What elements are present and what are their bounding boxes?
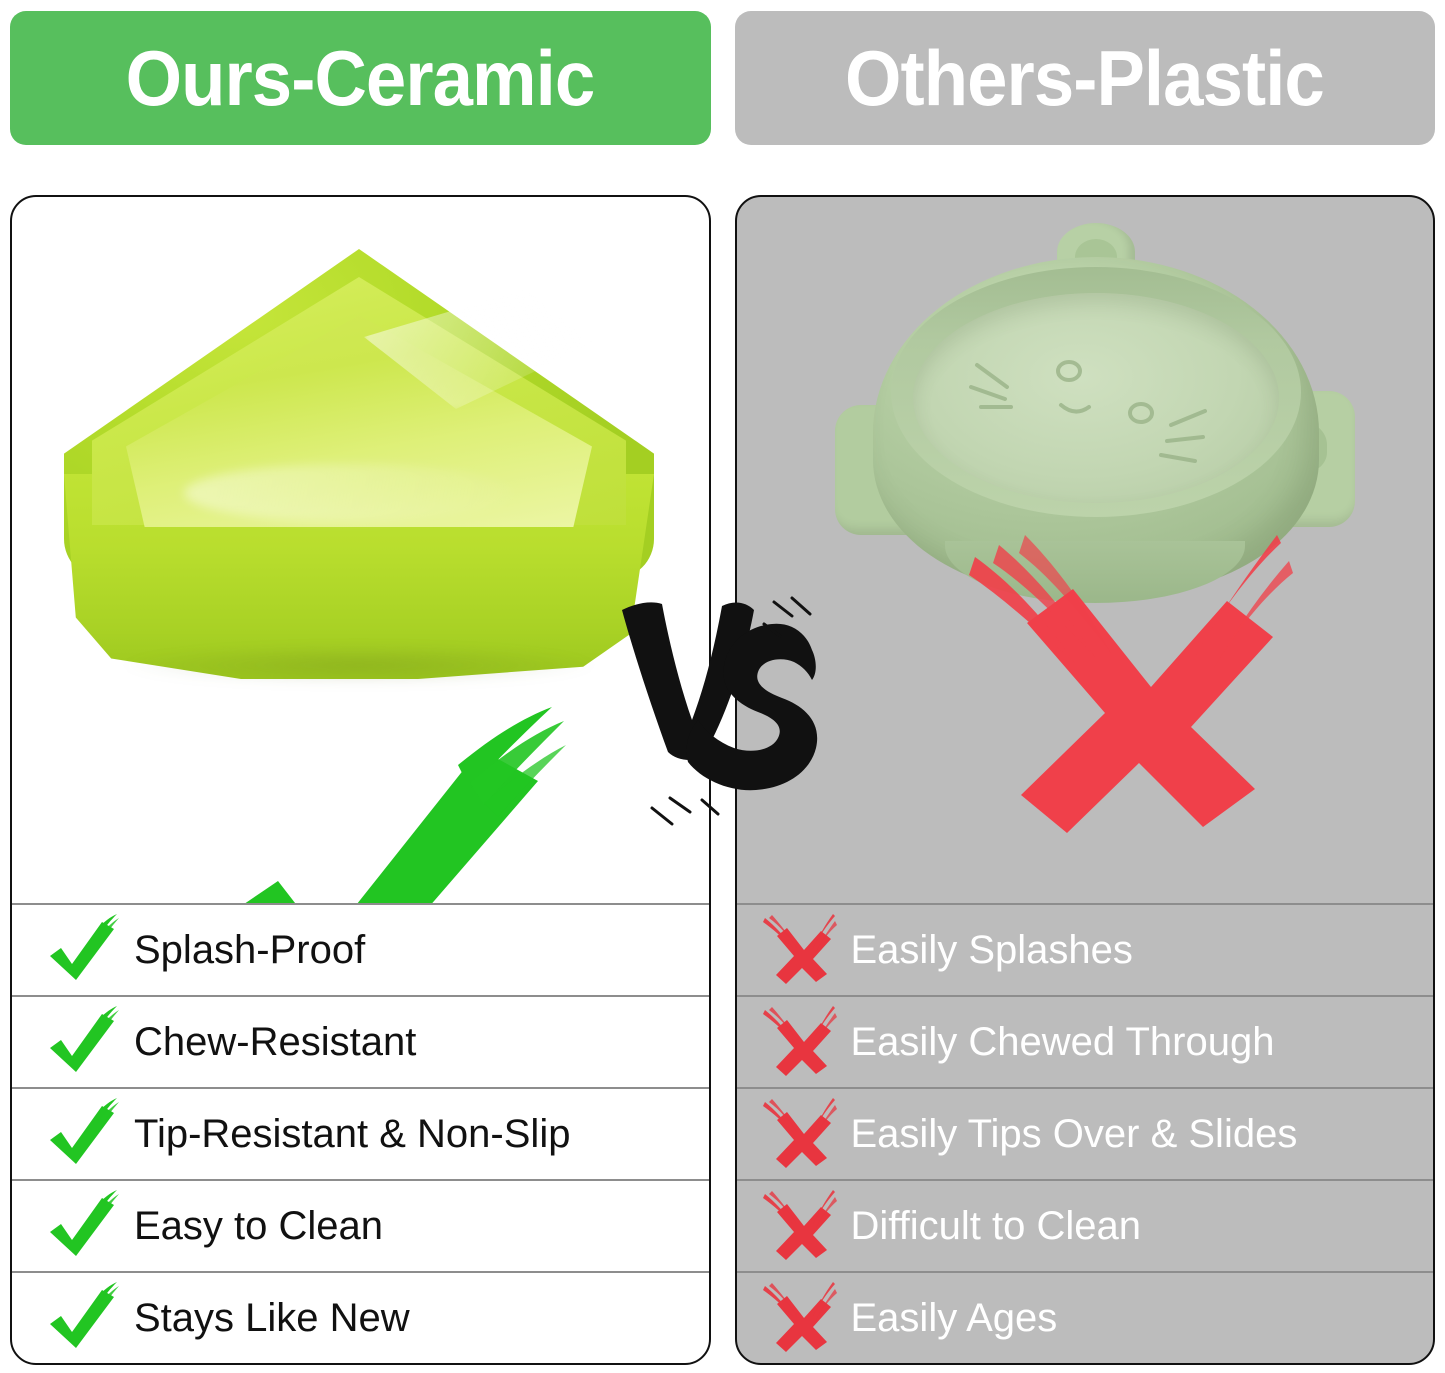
comparison-panels: Splash-Proof Chew-Resistant	[0, 190, 1445, 1373]
feature-label: Stays Like New	[134, 1296, 410, 1340]
feature-label: Difficult to Clean	[851, 1204, 1142, 1248]
feature-label: Easily Ages	[851, 1296, 1058, 1340]
cross-icon	[763, 914, 837, 986]
feature-row: Chew-Resistant	[12, 995, 709, 1087]
cross-icon	[763, 1098, 837, 1170]
feature-label: Tip-Resistant & Non-Slip	[134, 1112, 570, 1156]
panel-plastic: Easily Splashes Easily C	[735, 195, 1436, 1365]
cat-face-embossing	[965, 341, 1215, 481]
banner-ours-label: Ours-Ceramic	[126, 39, 595, 117]
product-comparison-board: Ours-Ceramic Others-Plastic	[0, 0, 1445, 1373]
cross-icon	[763, 1190, 837, 1262]
feature-row: Easily Splashes	[737, 903, 1434, 995]
panel-wrap-ceramic: Splash-Proof Chew-Resistant	[0, 190, 723, 1373]
ceramic-bowl-highlight-lower	[184, 464, 514, 522]
feature-list-ceramic: Splash-Proof Chew-Resistant	[12, 903, 709, 1363]
feature-row: Difficult to Clean	[737, 1179, 1434, 1271]
check-icon	[46, 1006, 120, 1078]
ceramic-bowl-shadow	[124, 645, 594, 685]
comparison-headers: Ours-Ceramic Others-Plastic	[0, 0, 1445, 190]
feature-row: Easy to Clean	[12, 1179, 709, 1271]
green-ceramic-corner-bowl-image	[64, 249, 654, 679]
feature-row: Splash-Proof	[12, 903, 709, 995]
banner-others: Others-Plastic	[735, 11, 1436, 145]
feature-row: Tip-Resistant & Non-Slip	[12, 1087, 709, 1179]
cross-icon	[763, 1006, 837, 1078]
check-icon	[46, 914, 120, 986]
ceramic-bowl-body	[64, 249, 654, 679]
banner-ours: Ours-Ceramic	[10, 11, 711, 145]
feature-label: Easy to Clean	[134, 1204, 383, 1248]
cross-icon	[955, 527, 1295, 847]
check-icon	[46, 1190, 120, 1262]
check-icon	[46, 1098, 120, 1170]
check-icon	[208, 705, 568, 903]
feature-row: Easily Chewed Through	[737, 995, 1434, 1087]
feature-row: Stays Like New	[12, 1271, 709, 1363]
panel-wrap-plastic: Easily Splashes Easily C	[723, 190, 1445, 1373]
banner-others-label: Others-Plastic	[845, 39, 1324, 117]
header-cell-others: Others-Plastic	[723, 0, 1445, 190]
header-cell-ours: Ours-Ceramic	[0, 0, 723, 190]
feature-row: Easily Ages	[737, 1271, 1434, 1363]
feature-label: Easily Tips Over & Slides	[851, 1112, 1298, 1156]
hero-ceramic	[12, 197, 709, 903]
cross-icon	[763, 1282, 837, 1354]
feature-label: Splash-Proof	[134, 928, 365, 972]
feature-label: Easily Chewed Through	[851, 1020, 1275, 1064]
feature-list-plastic: Easily Splashes Easily C	[737, 903, 1434, 1363]
feature-label: Easily Splashes	[851, 928, 1133, 972]
feature-label: Chew-Resistant	[134, 1020, 416, 1064]
check-icon	[46, 1282, 120, 1354]
feature-row: Easily Tips Over & Slides	[737, 1087, 1434, 1179]
panel-ceramic: Splash-Proof Chew-Resistant	[10, 195, 711, 1365]
hero-plastic	[737, 197, 1434, 903]
